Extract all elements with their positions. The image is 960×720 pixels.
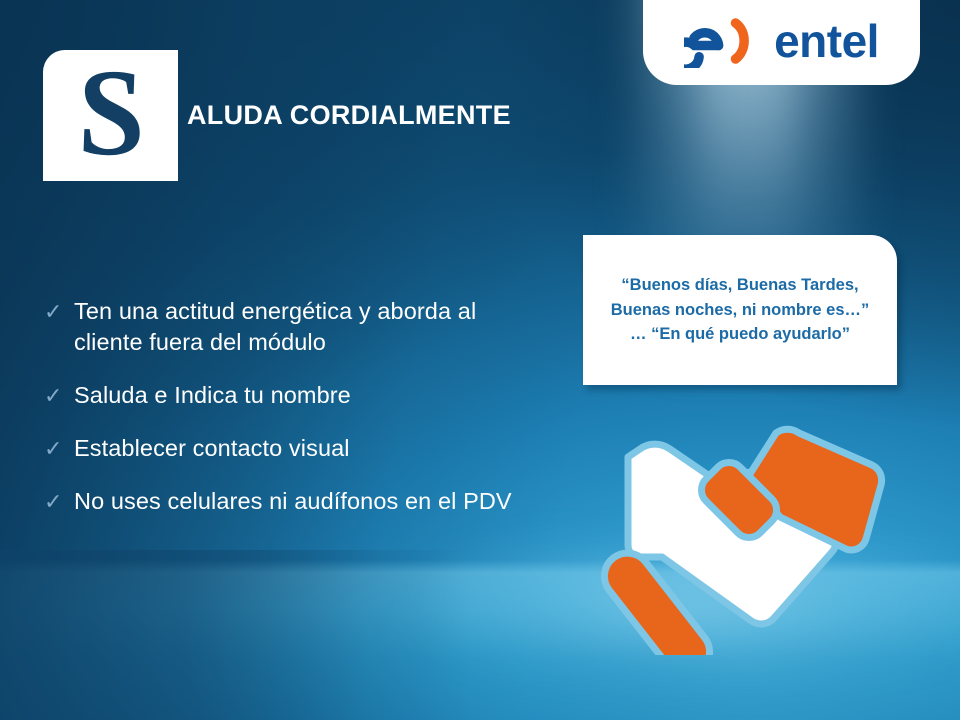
list-item-label: Saluda e Indica tu nombre — [74, 380, 351, 411]
entel-logo-panel: entel — [643, 0, 920, 85]
list-item-label: Establecer contacto visual — [74, 433, 350, 464]
handshake-illustration — [600, 405, 910, 655]
check-icon: ✓ — [44, 296, 74, 327]
check-icon: ✓ — [44, 486, 74, 517]
quote-callout: “Buenos días, Buenas Tardes, Buenas noch… — [583, 235, 897, 385]
bullet-list: ✓ Ten una actitud energética y aborda al… — [44, 296, 524, 539]
list-item: ✓ Establecer contacto visual — [44, 433, 524, 464]
e-arrow-logomark-icon — [684, 14, 760, 68]
entel-wordmark: entel — [774, 18, 879, 64]
list-item: ✓ Ten una actitud energética y aborda al… — [44, 296, 524, 358]
initial-letter: S — [67, 51, 153, 175]
initial-letter-badge: S — [43, 50, 178, 181]
check-icon: ✓ — [44, 380, 74, 411]
list-item: ✓ Saluda e Indica tu nombre — [44, 380, 524, 411]
list-item: ✓ No uses celulares ni audífonos en el P… — [44, 486, 524, 517]
list-item-label: Ten una actitud energética y aborda al c… — [74, 296, 524, 358]
list-item-label: No uses celulares ni audífonos en el PDV — [74, 486, 512, 517]
quote-callout-text: “Buenos días, Buenas Tardes, Buenas noch… — [599, 273, 882, 347]
check-icon: ✓ — [44, 433, 74, 464]
page-title: ALUDA CORDIALMENTE — [187, 100, 511, 131]
slide-canvas: entel S ALUDA CORDIALMENTE ✓ Ten una act… — [0, 0, 960, 720]
